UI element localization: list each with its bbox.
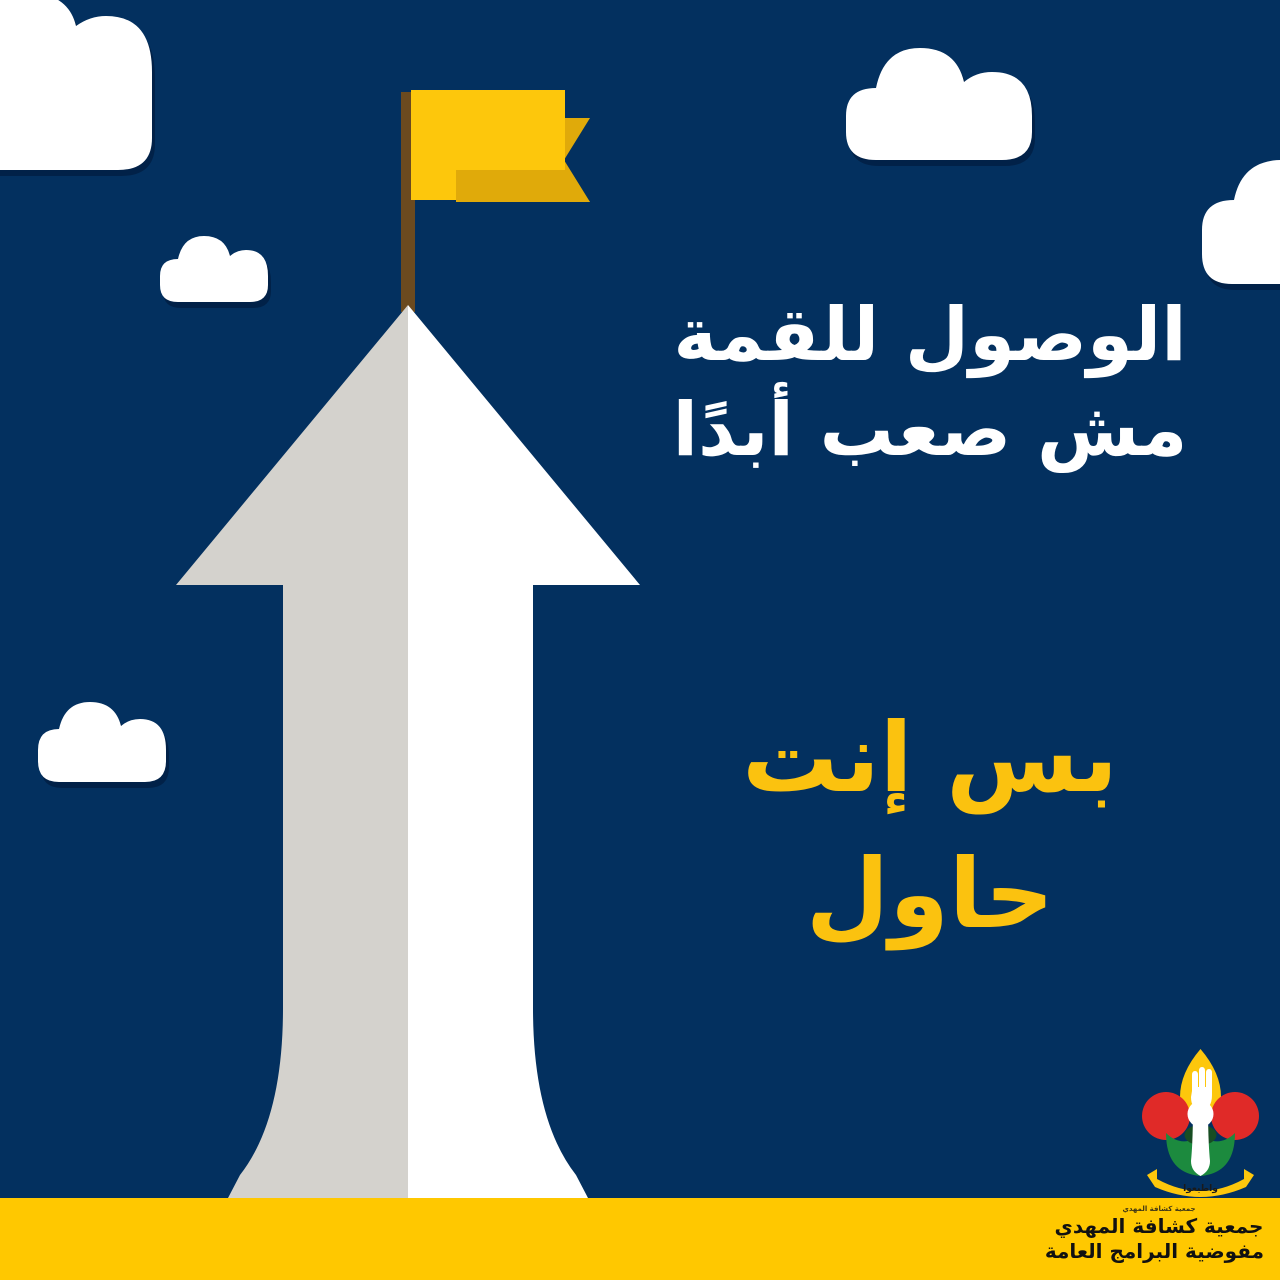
arrow-and-flag-illustration	[0, 0, 1280, 1280]
arrow-right-highlight	[408, 305, 640, 1198]
footer-line-1: جمعية كشافة المهدي	[1054, 1214, 1264, 1239]
headline-line-2: مش صعب أبدًا	[650, 383, 1210, 478]
accent-line-1: بس إنت	[650, 690, 1210, 826]
flag-cloth-top	[411, 90, 565, 170]
logo-petal-right	[1211, 1092, 1259, 1140]
poster-canvas: الوصول للقمة مش صعب أبدًا بس إنت حاول	[0, 0, 1280, 1280]
logo-center-orb	[1188, 1101, 1214, 1127]
footer-line-2: مفوضية البرامج العامة	[1054, 1239, 1264, 1264]
arrow-left-shade	[176, 305, 408, 1198]
accent-message-block: بس إنت حاول	[650, 690, 1210, 963]
scout-fleur-de-lis-logo: واطيعوا	[1133, 1045, 1268, 1197]
headline-block: الوصول للقمة مش صعب أبدًا	[650, 288, 1210, 477]
footer-micro-line: جمعية كشافة المهدي	[1054, 1206, 1264, 1213]
footer-band: جمعية كشافة المهدي جمعية كشافة المهدي مف…	[0, 1198, 1280, 1280]
logo-petal-left	[1142, 1092, 1190, 1140]
accent-line-2: حاول	[650, 826, 1210, 962]
headline-line-1: الوصول للقمة	[650, 288, 1210, 383]
logo-banner-text: واطيعوا	[1183, 1184, 1218, 1194]
footer-brand-block: جمعية كشافة المهدي جمعية كشافة المهدي مف…	[1054, 1206, 1264, 1264]
